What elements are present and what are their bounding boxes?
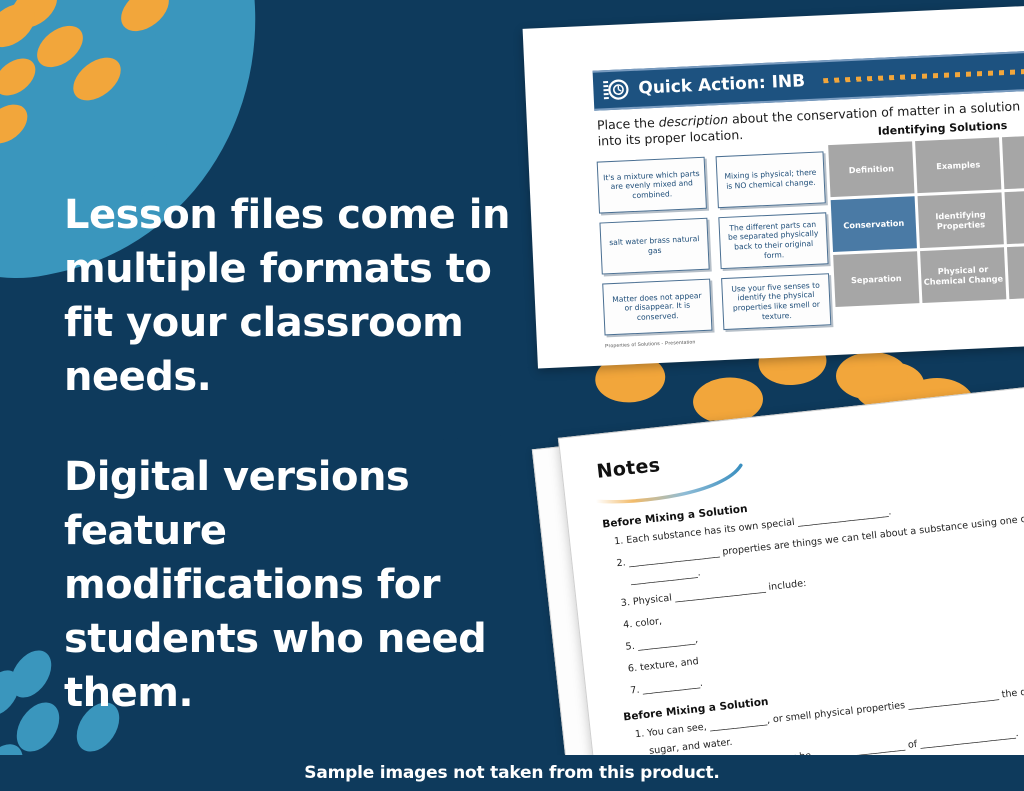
sort-card[interactable]: The different parts can be separated phy…: [718, 212, 828, 269]
sort-card-label: It's a mixture which parts are evenly mi…: [602, 169, 701, 202]
caption-bar: Sample images not taken from this produc…: [0, 755, 1024, 791]
table-cell[interactable]: Examples: [915, 137, 1001, 193]
table-cell-label: Physical or Chemical Change: [923, 263, 1004, 287]
headline-paragraph-1: Lesson files come in multiple formats to…: [64, 188, 534, 404]
caption-text: Sample images not taken from this produc…: [304, 763, 719, 783]
sort-card-label: Mixing is physical; there is NO chemical…: [721, 168, 820, 192]
prompt-part-1: Place the: [597, 115, 659, 133]
headline-copy: Lesson files come in multiple formats to…: [64, 188, 534, 720]
sort-card-label: salt water brass natural gas: [605, 234, 704, 258]
table-cell-label: Separation: [851, 273, 902, 285]
table-cell-label: Definition: [848, 163, 894, 175]
table-cell[interactable]: Review: [1007, 243, 1024, 299]
dotted-rule: [823, 64, 1024, 83]
slide-footer-text: Properties of Solutions - Presentation: [605, 339, 696, 349]
table-cell[interactable]: Senses: [1004, 188, 1024, 244]
headline-paragraph-2: Digital versions feature modifications f…: [64, 450, 534, 720]
identifying-solutions-table-wrap: Identifying Solutions Definition Example…: [827, 117, 1024, 307]
table-cell-label: Identifying Properties: [920, 208, 1001, 232]
table-cell-label: Examples: [936, 159, 980, 171]
sortable-card-grid: It's a mixture which parts are evenly mi…: [597, 151, 832, 335]
table-cell[interactable]: Definition: [828, 141, 914, 197]
sort-card-label: Use your five senses to identify the phy…: [726, 280, 826, 323]
table-cell[interactable]: Mixing: [1002, 133, 1024, 189]
quick-action-title: Quick Action: INB: [638, 71, 806, 99]
sort-card[interactable]: salt water brass natural gas: [599, 218, 709, 275]
sort-card[interactable]: Mixing is physical; there is NO chemical…: [716, 151, 826, 208]
notes-page-front[interactable]: Notes Before Mixing a Solution Each subs…: [558, 380, 1024, 791]
film-reel-clock-icon: [603, 78, 630, 101]
sort-card[interactable]: Use your five senses to identify the phy…: [721, 273, 831, 330]
table-cell[interactable]: Physical or Chemical Change: [920, 247, 1006, 303]
identifying-solutions-table: Definition Examples Mixing Conservation …: [828, 135, 1024, 307]
table-cell[interactable]: Separation: [833, 251, 919, 307]
table-cell[interactable]: Identifying Properties: [918, 192, 1004, 248]
presentation-slide-card[interactable]: Quick Action: INB Place the description …: [523, 3, 1024, 368]
table-cell-highlighted[interactable]: Conservation: [831, 196, 917, 252]
prompt-emphasis: description: [658, 112, 728, 130]
sort-card[interactable]: Matter does not appear or disappear. It …: [602, 279, 712, 336]
poster-canvas: Lesson files come in multiple formats to…: [0, 0, 1024, 791]
decorative-dot-orange: [836, 352, 908, 400]
sort-card-label: Matter does not appear or disappear. It …: [608, 290, 707, 323]
sort-card-label: The different parts can be separated phy…: [724, 219, 824, 262]
table-cell-label: Conservation: [843, 218, 904, 231]
sort-card[interactable]: It's a mixture which parts are evenly mi…: [597, 157, 707, 214]
